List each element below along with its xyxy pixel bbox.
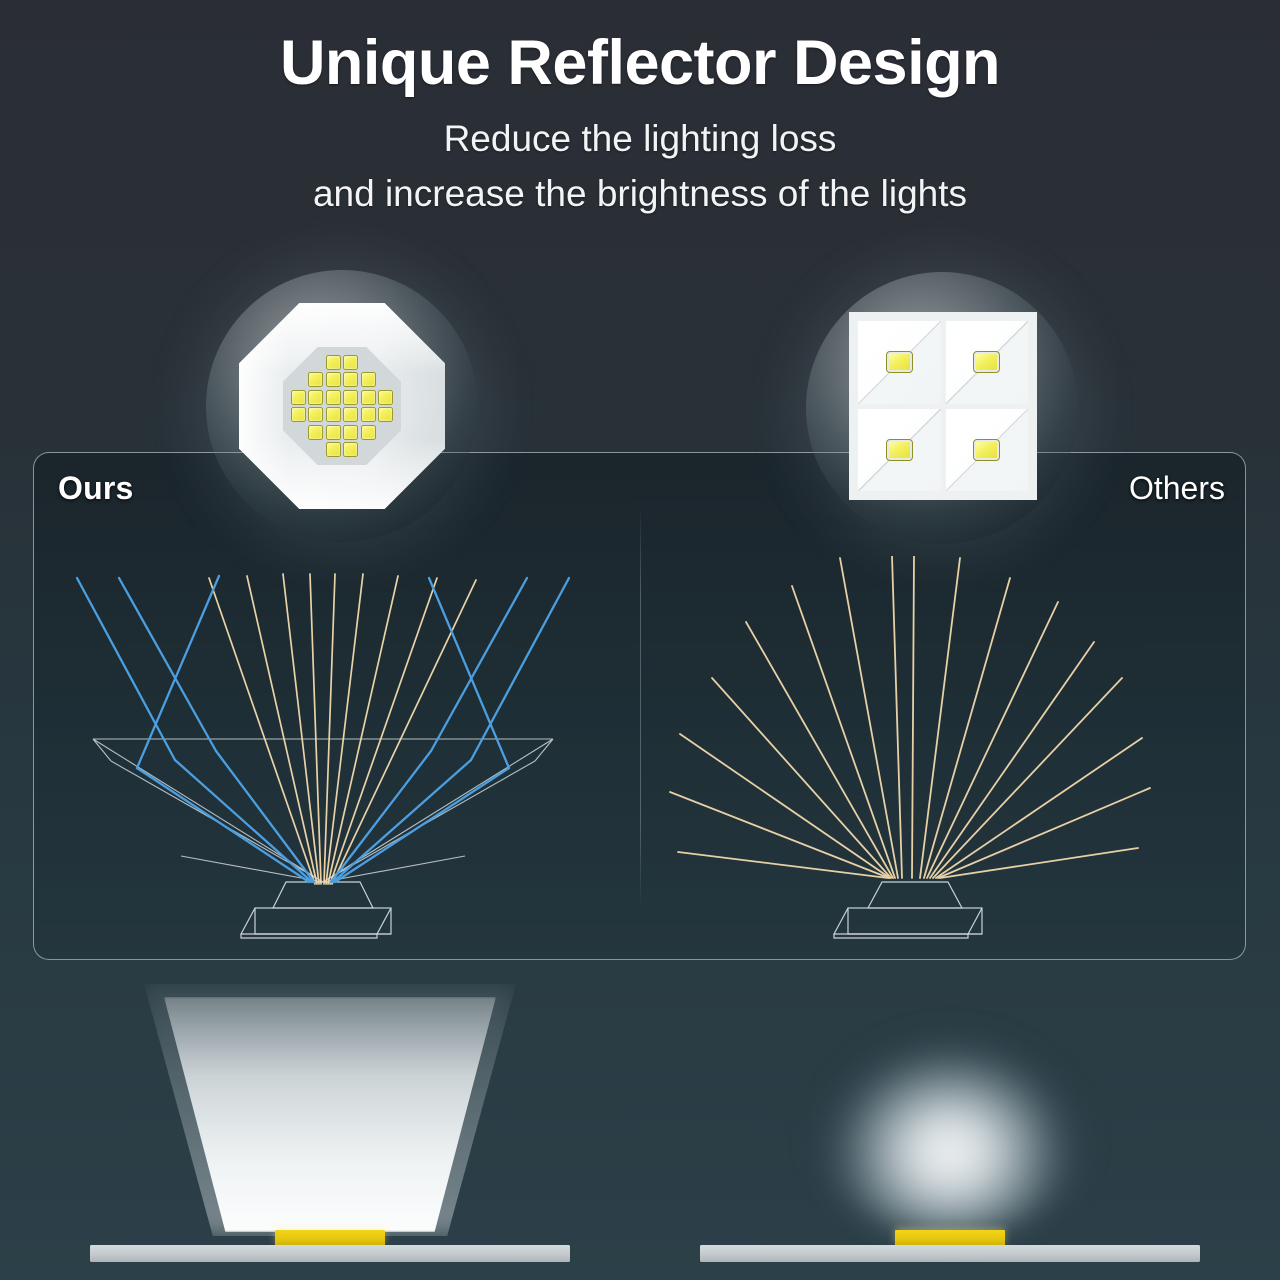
led-chip [326, 355, 341, 370]
reflected-rays [77, 576, 569, 882]
led-chip [308, 390, 323, 405]
subtitle-line-2: and increase the brightness of the light… [0, 166, 1280, 221]
led-row [308, 372, 376, 387]
panel-divider [640, 505, 641, 909]
reflector-cell [946, 321, 1029, 404]
led-chip [361, 372, 376, 387]
led-row [326, 442, 359, 457]
led-bar [895, 1230, 1005, 1246]
led-module-ours [206, 270, 478, 542]
page-title: Unique Reflector Design [0, 0, 1280, 95]
square-reflector-icon [849, 312, 1037, 500]
led-chip [308, 372, 323, 387]
subtitle-line-1: Reduce the lighting loss [0, 95, 1280, 166]
led-row [326, 355, 359, 370]
led-chip [343, 355, 358, 370]
led-chip [361, 390, 376, 405]
led-chip [308, 425, 323, 440]
header: Unique Reflector Design Reduce the light… [0, 0, 1280, 220]
beam-illustration-others [700, 980, 1200, 1280]
led-chip [308, 407, 323, 422]
reflector-cell [858, 321, 941, 404]
beam-diffuse-glow [800, 944, 1100, 1234]
led-chip [887, 440, 912, 460]
led-chip [361, 425, 376, 440]
ray-diagram-ours [33, 556, 613, 952]
focused-rays [209, 574, 476, 884]
led-chip [291, 390, 306, 405]
led-chip [361, 407, 376, 422]
led-chip [343, 425, 358, 440]
led-chip [326, 425, 341, 440]
reflector-cell [858, 409, 941, 492]
led-chip [343, 372, 358, 387]
led-chip [974, 440, 999, 460]
ray-diagram-others [650, 556, 1170, 952]
led-chip [326, 372, 341, 387]
label-ours: Ours [58, 470, 134, 507]
led-chip [887, 352, 912, 372]
led-chip [291, 407, 306, 422]
led-row [308, 425, 376, 440]
fixture-base [241, 882, 391, 938]
scatter-rays [670, 556, 1150, 878]
led-chip [974, 352, 999, 372]
label-others: Others [1129, 470, 1225, 507]
led-chip [326, 390, 341, 405]
led-module-others [806, 272, 1078, 544]
led-chip [326, 442, 341, 457]
led-chip [378, 407, 393, 422]
led-chip [378, 390, 393, 405]
reflector-cone-outline [93, 739, 553, 882]
led-chip-array [283, 347, 401, 465]
beam-illustration-ours [90, 980, 570, 1280]
octagonal-reflector-icon [239, 303, 445, 509]
led-chip [326, 407, 341, 422]
mounting-strip [700, 1245, 1200, 1262]
led-bar [275, 1230, 385, 1246]
led-row [291, 407, 394, 422]
led-chip [343, 407, 358, 422]
reflector-cell [946, 409, 1029, 492]
fixture-base [834, 882, 982, 938]
led-chip [343, 390, 358, 405]
mounting-strip [90, 1245, 570, 1262]
led-row [291, 390, 394, 405]
led-chip [343, 442, 358, 457]
